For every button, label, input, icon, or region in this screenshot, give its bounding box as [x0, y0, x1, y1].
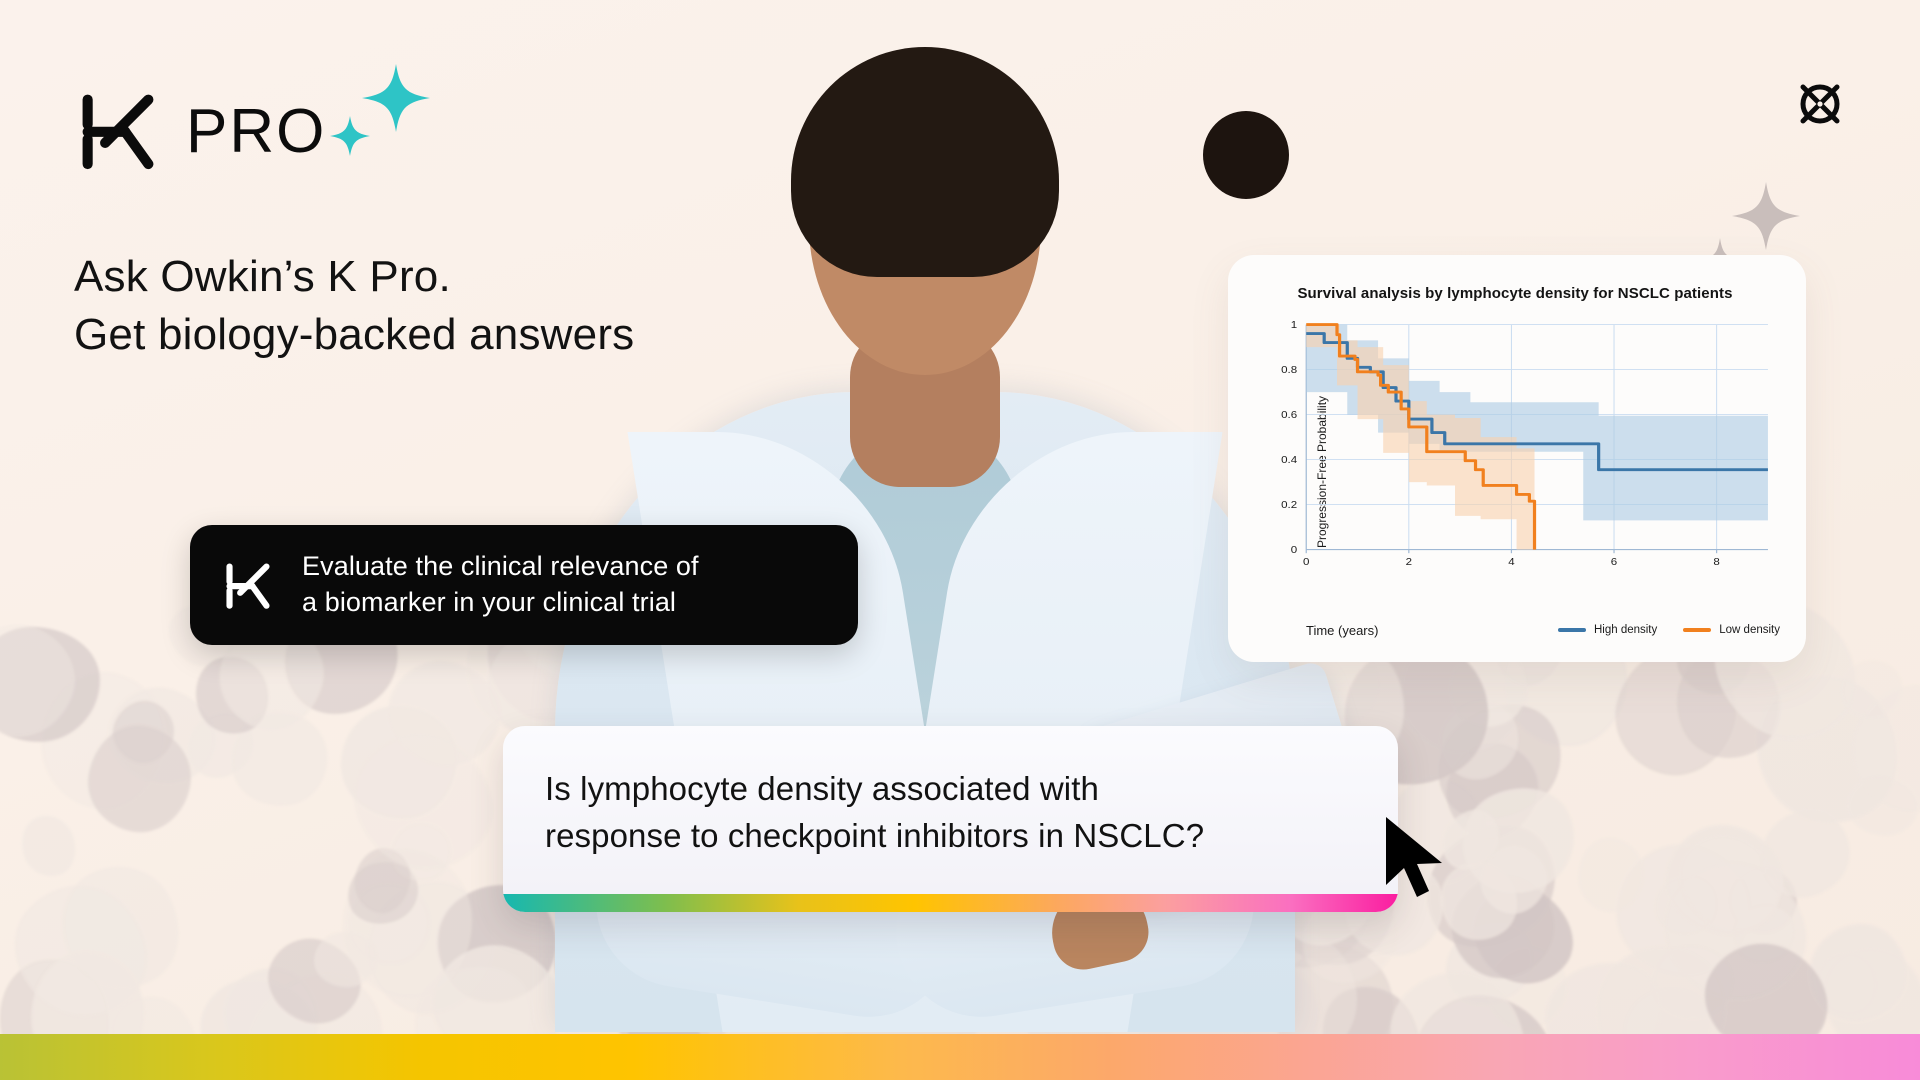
svg-text:0: 0: [1303, 556, 1309, 567]
legend-swatch: [1683, 628, 1711, 632]
chart-title: Survival analysis by lymphocyte density …: [1244, 285, 1786, 302]
question-line-2: response to checkpoint inhibitors in NSC…: [545, 813, 1356, 860]
owkin-circle-x-icon[interactable]: [1792, 76, 1848, 132]
svg-text:0: 0: [1291, 545, 1297, 556]
question-line-1: Is lymphocyte density associated with: [545, 766, 1356, 813]
product-name: PRO: [186, 101, 326, 163]
svg-text:4: 4: [1508, 556, 1514, 567]
question-card[interactable]: Is lymphocyte density associated with re…: [503, 726, 1398, 912]
headline-line-1: Ask Owkin’s K Pro.: [74, 248, 634, 306]
legend-item-high-density: High density: [1558, 624, 1657, 636]
svg-text:8: 8: [1713, 556, 1719, 567]
sparkle-icon: [326, 60, 436, 160]
svg-text:0.2: 0.2: [1281, 500, 1297, 511]
survival-chart-card: Survival analysis by lymphocyte density …: [1228, 255, 1806, 662]
promo-banner: PRO Ask Owkin’s K Pro. Get biology-backe…: [0, 0, 1920, 1080]
mouse-pointer-icon: [1382, 815, 1454, 903]
headline-line-2: Get biology-backed answers: [74, 306, 634, 364]
legend-label: Low density: [1719, 624, 1780, 636]
k-logo-icon: [220, 557, 276, 613]
svg-text:1: 1: [1291, 320, 1297, 331]
svg-text:0.6: 0.6: [1281, 410, 1297, 421]
legend-swatch: [1558, 628, 1586, 632]
chip-line-2: a biomarker in your clinical trial: [302, 585, 699, 621]
bottom-gradient-bar: [0, 1034, 1920, 1080]
k-logo-icon: [72, 84, 164, 176]
survival-plot: 00.20.40.60.8102468: [1244, 312, 1786, 582]
chart-x-axis-label: Time (years): [1306, 623, 1378, 638]
brand-logo: PRO: [72, 84, 326, 176]
page-title: Ask Owkin’s K Pro. Get biology-backed an…: [74, 248, 634, 364]
legend-item-low-density: Low density: [1683, 624, 1780, 636]
svg-text:6: 6: [1611, 556, 1617, 567]
svg-text:0.8: 0.8: [1281, 365, 1297, 376]
prompt-suggestion-chip[interactable]: Evaluate the clinical relevance of a bio…: [190, 525, 858, 645]
legend-label: High density: [1594, 624, 1657, 636]
svg-text:2: 2: [1406, 556, 1412, 567]
question-card-gradient-bar: [503, 894, 1398, 912]
chart-legend: High density Low density: [1558, 624, 1780, 636]
svg-text:0.4: 0.4: [1281, 455, 1297, 466]
chip-line-1: Evaluate the clinical relevance of: [302, 549, 699, 585]
